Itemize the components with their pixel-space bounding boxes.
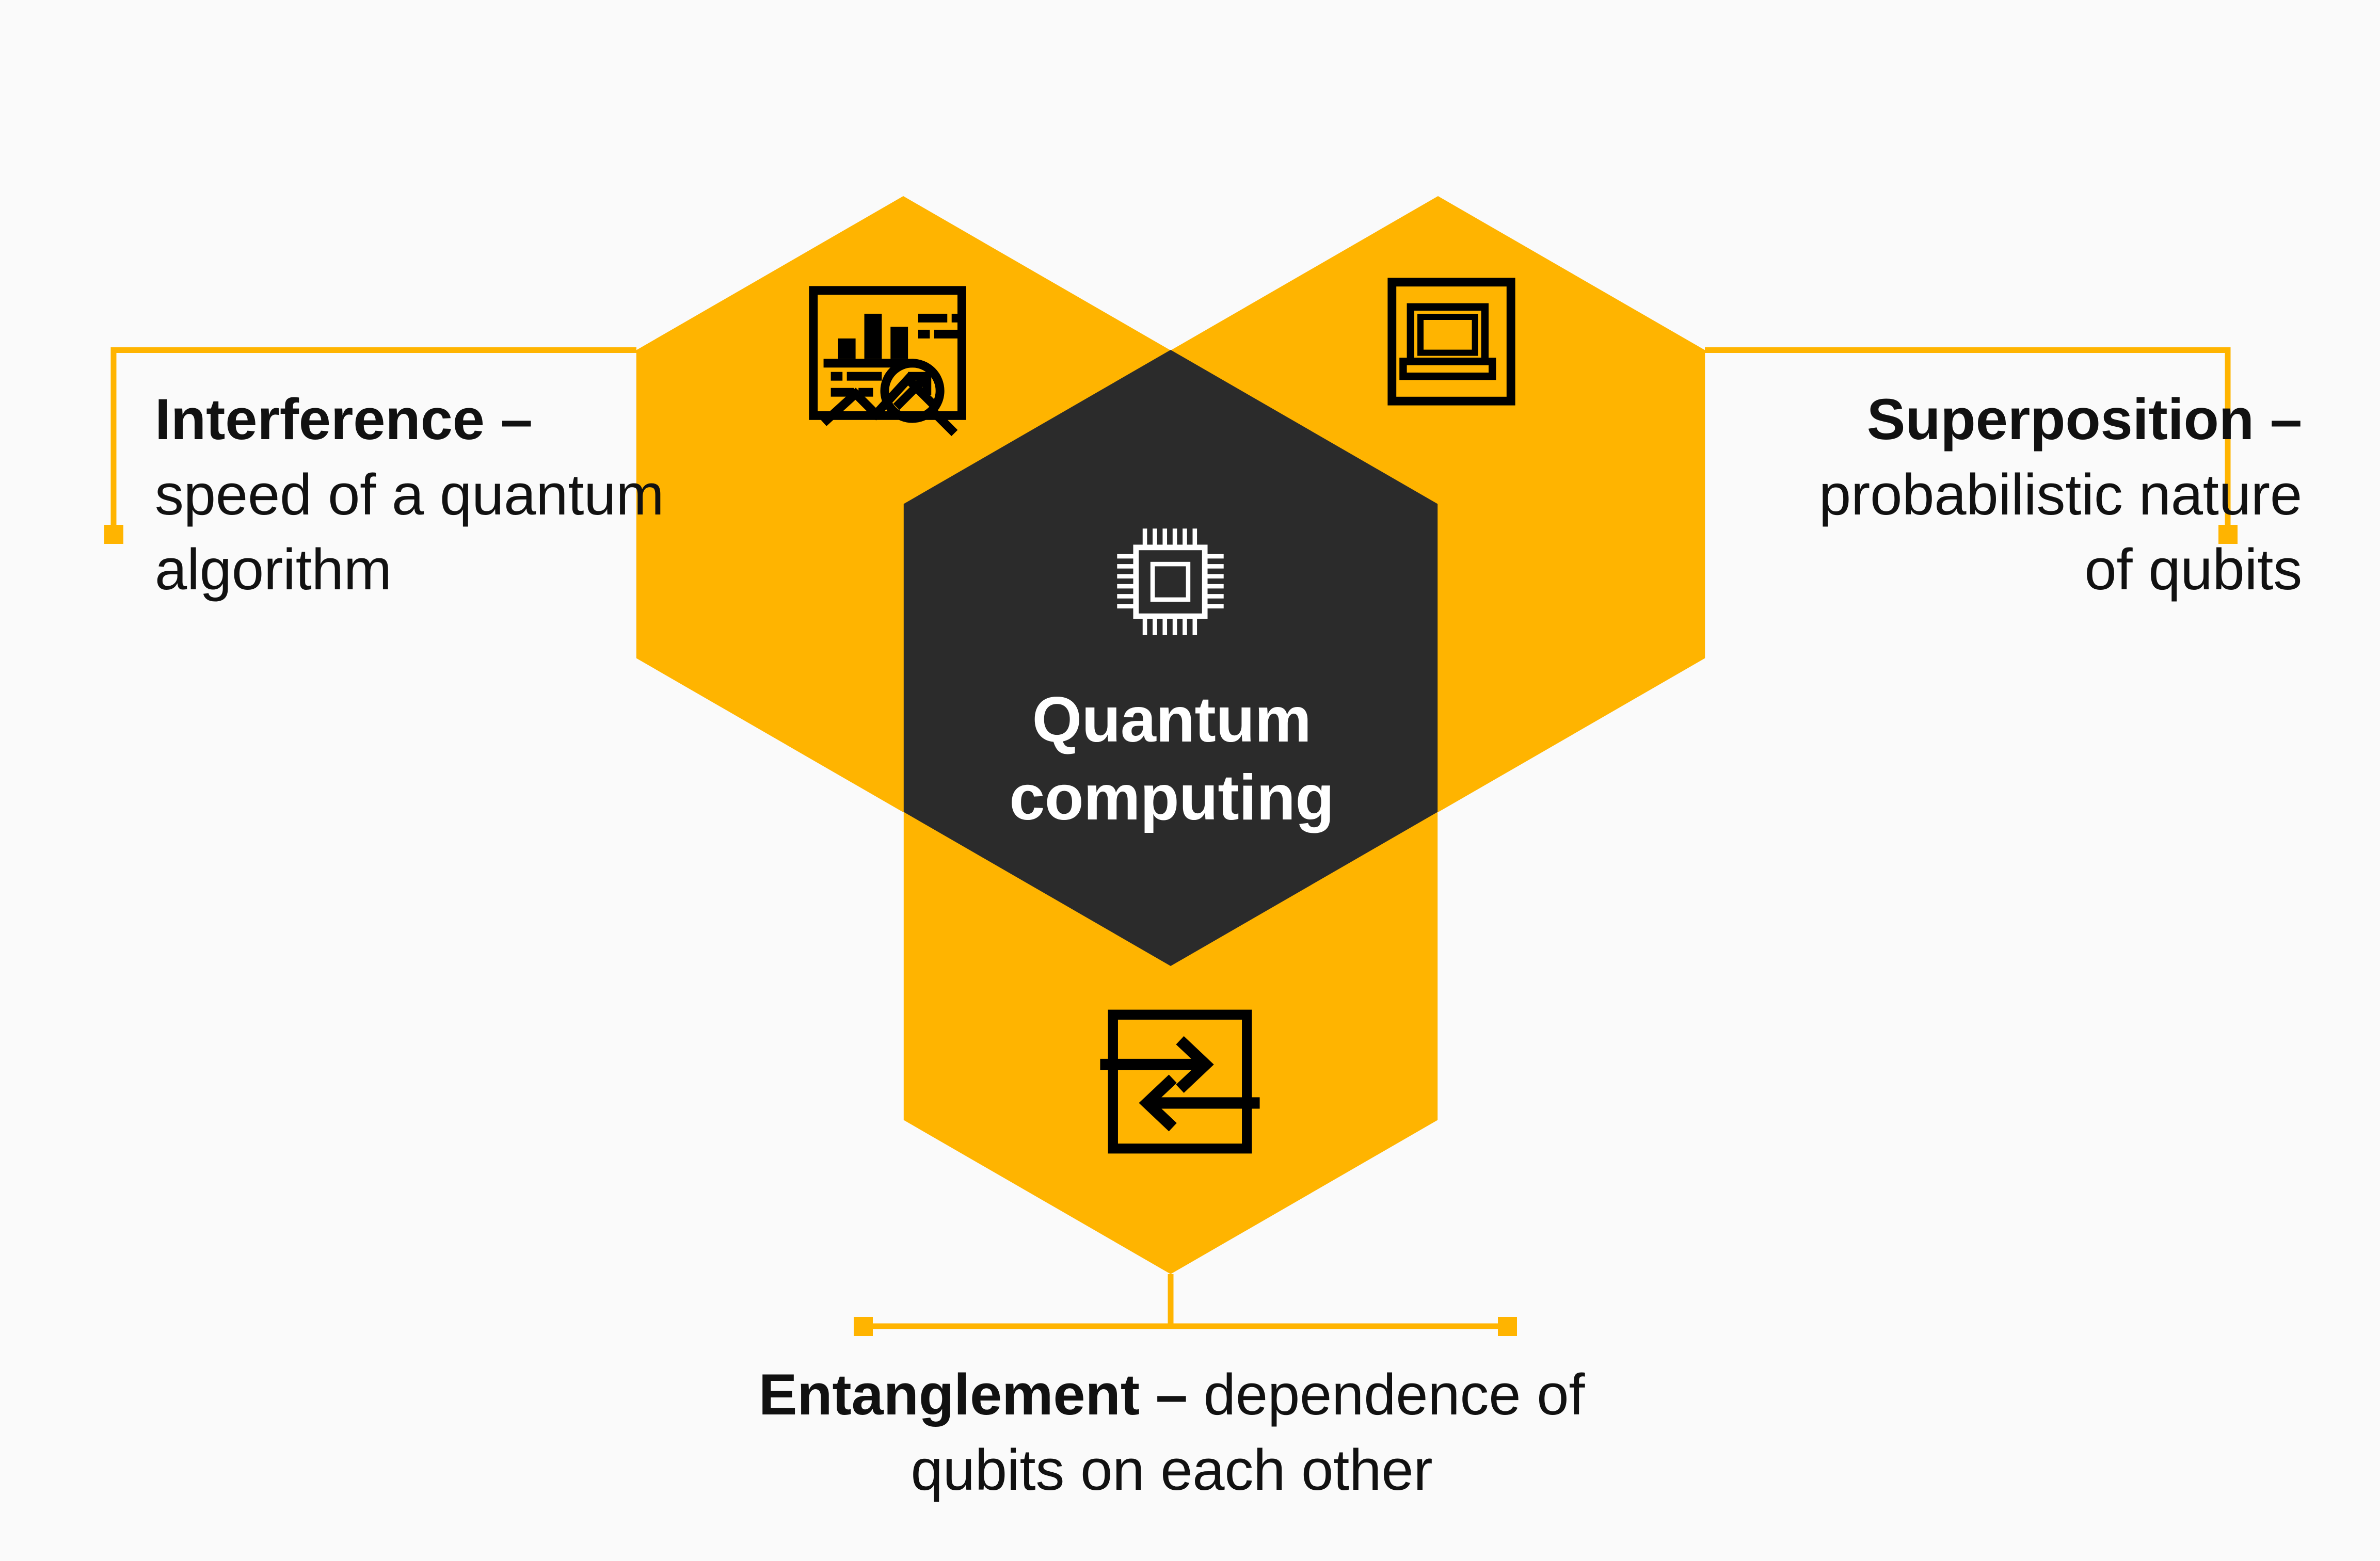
center-title-line-2: computing [908, 759, 1435, 837]
label-interference: Interference – speed of a quantum algori… [155, 382, 681, 607]
center-node-title: Quantum computing [908, 681, 1435, 838]
label-interference-rest: speed of a quantum algorithm [155, 462, 664, 602]
label-interference-lead: Interference – [155, 387, 533, 452]
endcap-entanglement-left [854, 1317, 873, 1336]
infographic-canvas: Quantum computing Interference – speed o… [0, 0, 2380, 1561]
endcap-entanglement-right [1498, 1317, 1517, 1336]
endcap-interference [104, 525, 123, 544]
center-title-line-1: Quantum [1032, 684, 1312, 755]
label-superposition-lead: Superposition – [1867, 387, 2302, 452]
label-entanglement-lead: Entanglement – [759, 1362, 1188, 1427]
label-superposition: Superposition – probabilistic nature of … [1781, 382, 2302, 607]
label-superposition-rest: probabilistic nature of qubits [1819, 462, 2302, 602]
label-entanglement: Entanglement – dependence of qubits on e… [738, 1357, 1605, 1507]
